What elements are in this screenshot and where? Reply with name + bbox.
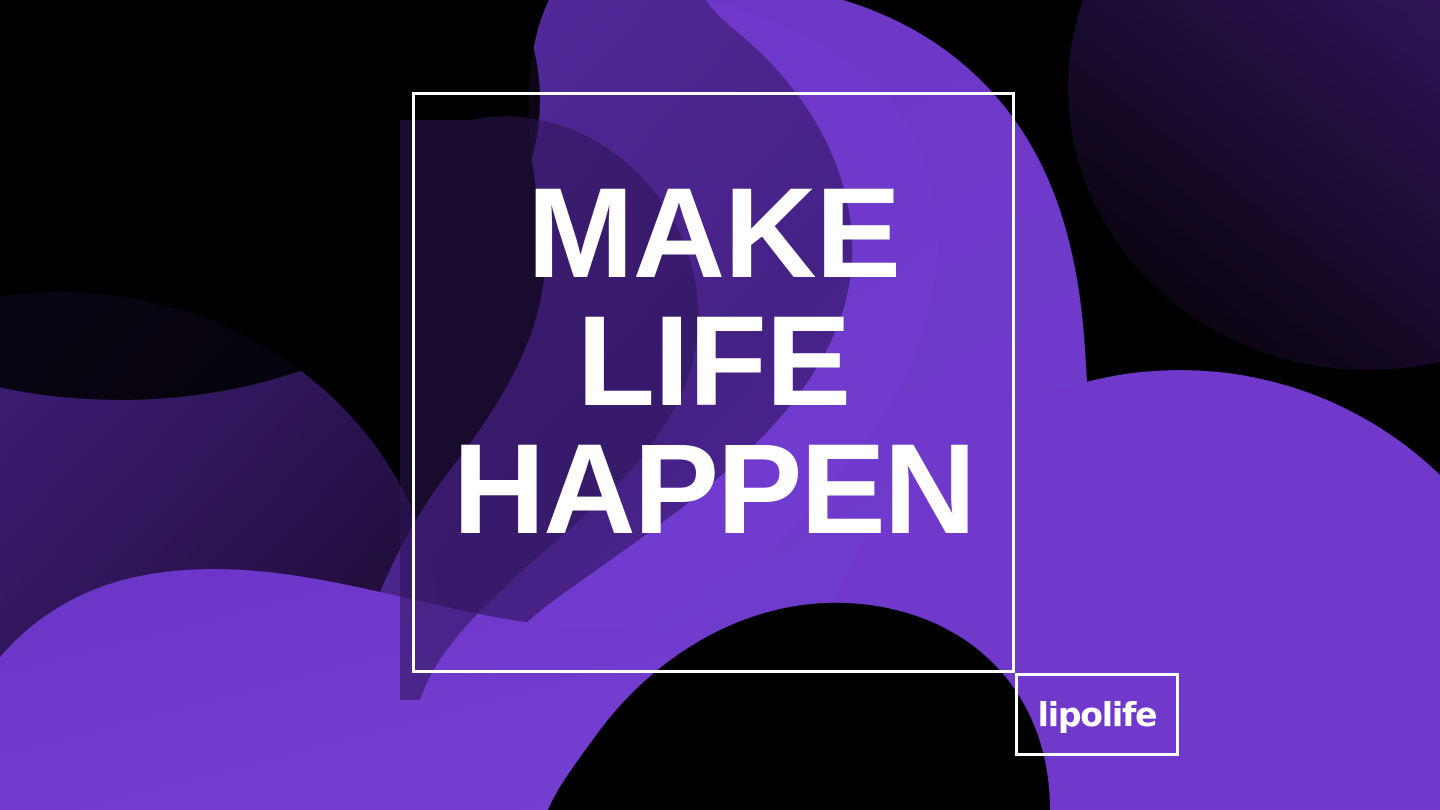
poster-canvas: MAKE LIFE HAPPEN lipolife: [0, 0, 1440, 810]
headline-block: MAKE LIFE HAPPEN: [412, 170, 1015, 554]
headline-line-1: MAKE: [412, 170, 1015, 298]
brand-wordmark: lipolife: [1038, 698, 1157, 731]
headline-line-3: HAPPEN: [412, 426, 1015, 554]
logo-badge: lipolife: [1015, 673, 1179, 756]
headline-line-2: LIFE: [412, 298, 1015, 426]
